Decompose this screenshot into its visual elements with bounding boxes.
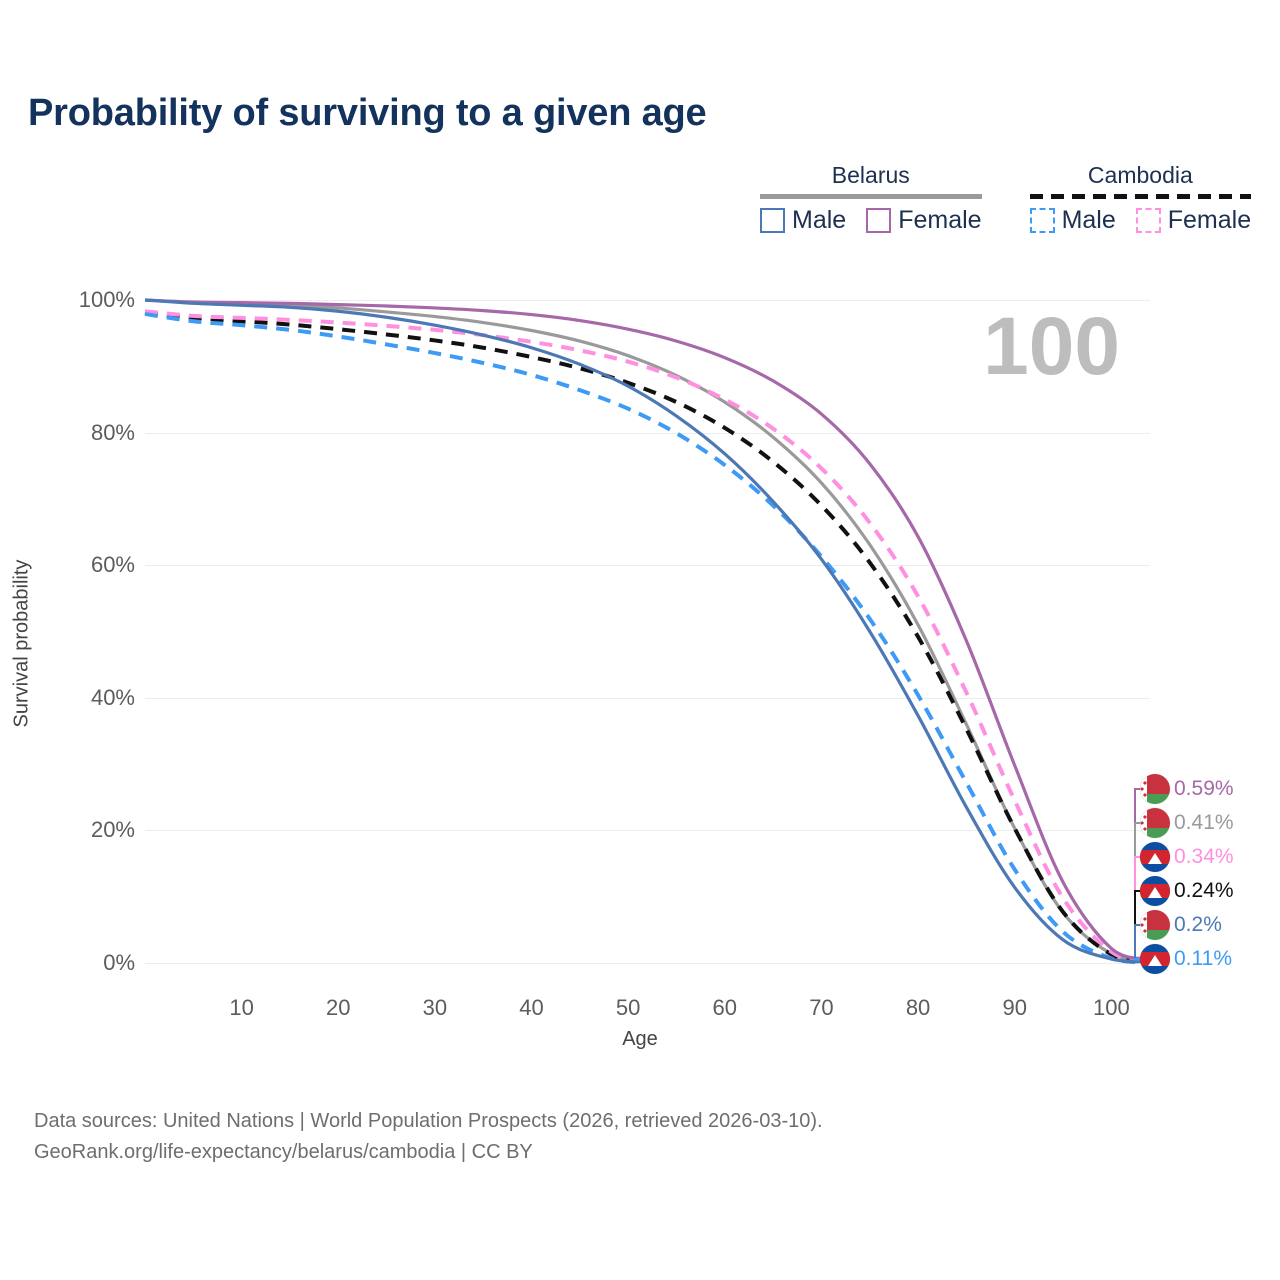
- legend-item-cambodia-male[interactable]: Male: [1030, 206, 1116, 235]
- end-value-labels: 0.59%0.41%0.34%0.24%0.2%0.11%: [1140, 772, 1280, 976]
- flag-icon-cambodia: [1140, 944, 1170, 974]
- flag-icon-cambodia: [1140, 842, 1170, 872]
- legend-item-label: Female: [1168, 206, 1251, 235]
- x-tick-label: 80: [906, 995, 930, 1021]
- flag-icon-cambodia: [1140, 876, 1170, 906]
- legend-swatch-solid: [866, 208, 891, 233]
- flag-icon-belarus: [1140, 808, 1170, 838]
- end-label-row[interactable]: 0.34%: [1140, 840, 1280, 874]
- end-label-value: 0.24%: [1174, 879, 1234, 903]
- legend-group-rule-solid: [760, 194, 982, 199]
- end-label-value: 0.59%: [1174, 777, 1234, 801]
- chart-legend: BelarusMaleFemaleCambodiaMaleFemale: [760, 162, 1260, 235]
- x-tick-label: 20: [326, 995, 350, 1021]
- end-label-row[interactable]: 0.41%: [1140, 806, 1280, 840]
- end-label-row[interactable]: 0.11%: [1140, 942, 1280, 976]
- legend-group-title: Belarus: [760, 162, 982, 191]
- legend-item-belarus-male[interactable]: Male: [760, 206, 846, 235]
- flag-icon-belarus: [1140, 910, 1170, 940]
- page-title: Probability of surviving to a given age: [28, 92, 706, 135]
- x-axis-label: Age: [0, 1028, 1280, 1051]
- legend-item-label: Female: [898, 206, 981, 235]
- legend-item-belarus-female[interactable]: Female: [866, 206, 981, 235]
- leader-lines: [1095, 772, 1145, 982]
- legend-group-title: Cambodia: [1030, 162, 1252, 191]
- x-tick-label: 50: [616, 995, 640, 1021]
- legend-group-cambodia: CambodiaMaleFemale: [1030, 162, 1252, 235]
- y-axis-label: Survival probability: [11, 364, 34, 924]
- footer-credits: Data sources: United Nations | World Pop…: [34, 1106, 823, 1168]
- x-tick-label: 60: [713, 995, 737, 1021]
- y-tick-label: 60%: [55, 552, 135, 578]
- x-tick-label: 90: [1002, 995, 1026, 1021]
- legend-group-rule-dashed: [1030, 194, 1252, 199]
- footer-line-1: Data sources: United Nations | World Pop…: [34, 1106, 823, 1137]
- x-tick-label: 30: [423, 995, 447, 1021]
- legend-swatch-solid: [760, 208, 785, 233]
- legend-group-belarus: BelarusMaleFemale: [760, 162, 982, 235]
- legend-item-label: Male: [792, 206, 846, 235]
- end-label-value: 0.2%: [1174, 913, 1222, 937]
- plot-area: 100: [145, 300, 1150, 963]
- legend-swatch-dashed: [1030, 208, 1055, 233]
- footer-line-2: GeoRank.org/life-expectancy/belarus/camb…: [34, 1137, 823, 1168]
- y-tick-label: 0%: [55, 950, 135, 976]
- end-label-value: 0.34%: [1174, 845, 1234, 869]
- x-tick-label: 100: [1093, 995, 1130, 1021]
- end-label-row[interactable]: 0.24%: [1140, 874, 1280, 908]
- end-label-value: 0.41%: [1174, 811, 1234, 835]
- y-tick-label: 100%: [55, 287, 135, 313]
- legend-items: MaleFemale: [1030, 206, 1252, 235]
- y-tick-label: 20%: [55, 817, 135, 843]
- flag-icon-belarus: [1140, 774, 1170, 804]
- legend-item-label: Male: [1062, 206, 1116, 235]
- legend-swatch-dashed: [1136, 208, 1161, 233]
- end-label-row[interactable]: 0.2%: [1140, 908, 1280, 942]
- x-tick-label: 40: [519, 995, 543, 1021]
- x-tick-label: 10: [229, 995, 253, 1021]
- series-lines: [145, 300, 1150, 963]
- x-tick-label: 70: [809, 995, 833, 1021]
- legend-item-cambodia-female[interactable]: Female: [1136, 206, 1251, 235]
- gridline-y: [145, 963, 1150, 964]
- legend-items: MaleFemale: [760, 206, 982, 235]
- end-label-row[interactable]: 0.59%: [1140, 772, 1280, 806]
- x-axis: 102030405060708090100: [145, 995, 1150, 1025]
- y-tick-label: 80%: [55, 420, 135, 446]
- legend-groups: BelarusMaleFemaleCambodiaMaleFemale: [760, 162, 1260, 235]
- end-label-value: 0.11%: [1174, 947, 1232, 971]
- series-line-belarus-male: [145, 300, 1150, 962]
- y-tick-label: 40%: [55, 685, 135, 711]
- chart-root: Probability of surviving to a given age …: [0, 0, 1280, 1280]
